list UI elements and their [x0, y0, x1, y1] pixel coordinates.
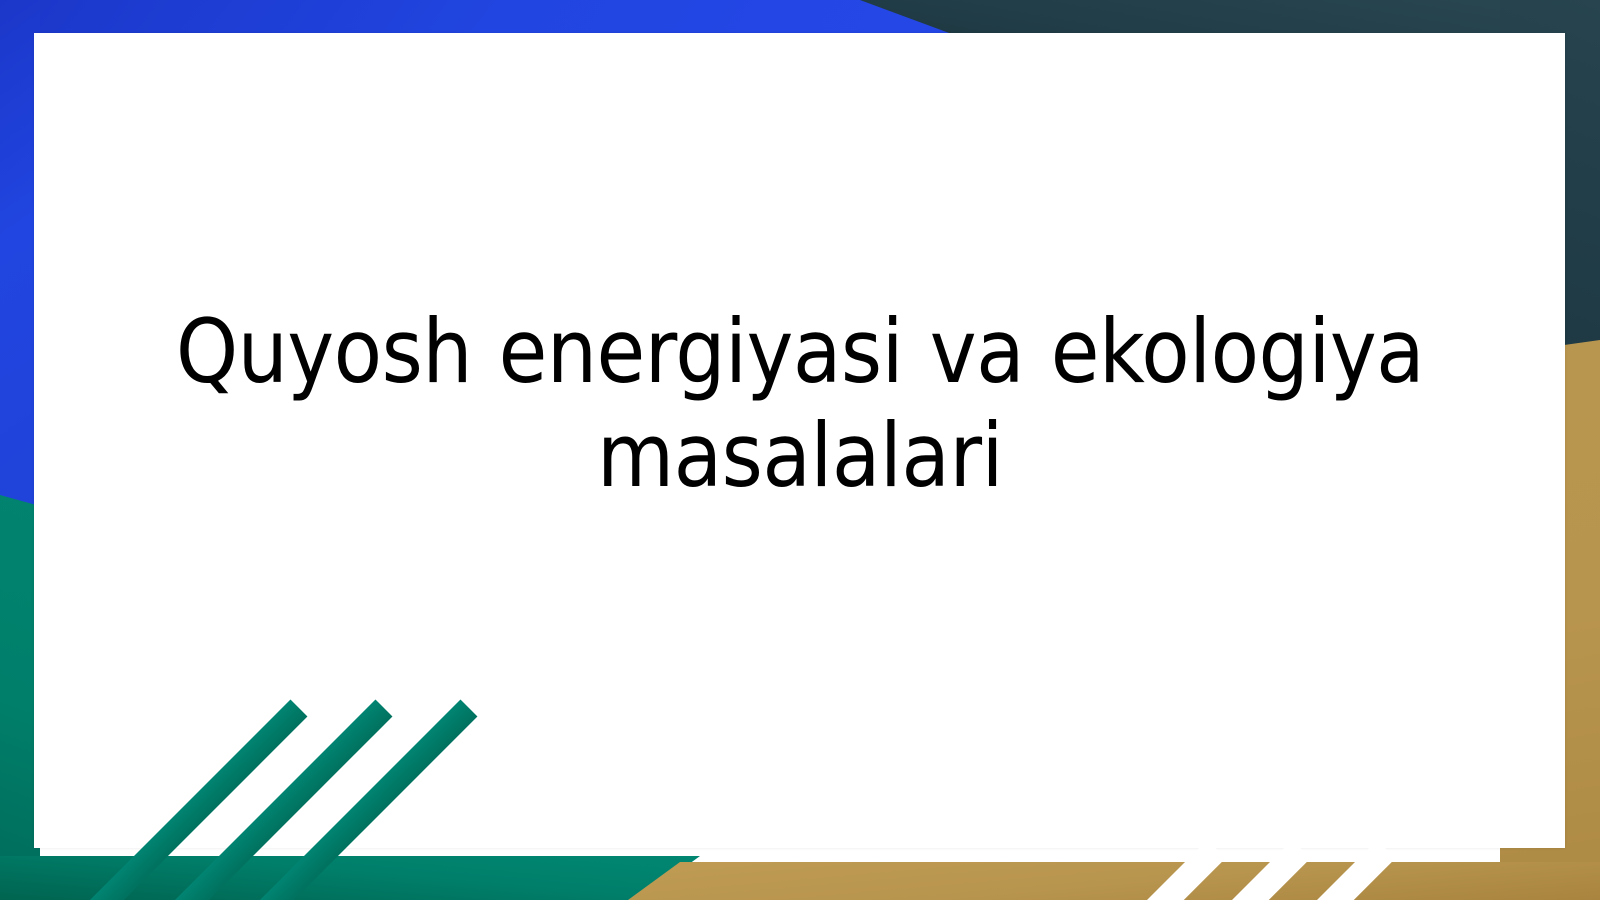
presentation-slide: Quyosh energiyasi va ekologiya masalalar…	[0, 0, 1600, 900]
title-block: Quyosh energiyasi va ekologiya masalalar…	[60, 300, 1540, 508]
slide-title: Quyosh energiyasi va ekologiya masalalar…	[60, 300, 1540, 508]
background-edge-bottom-teal	[0, 856, 700, 900]
background-quadrant-bottom-right-gold	[600, 855, 1600, 900]
